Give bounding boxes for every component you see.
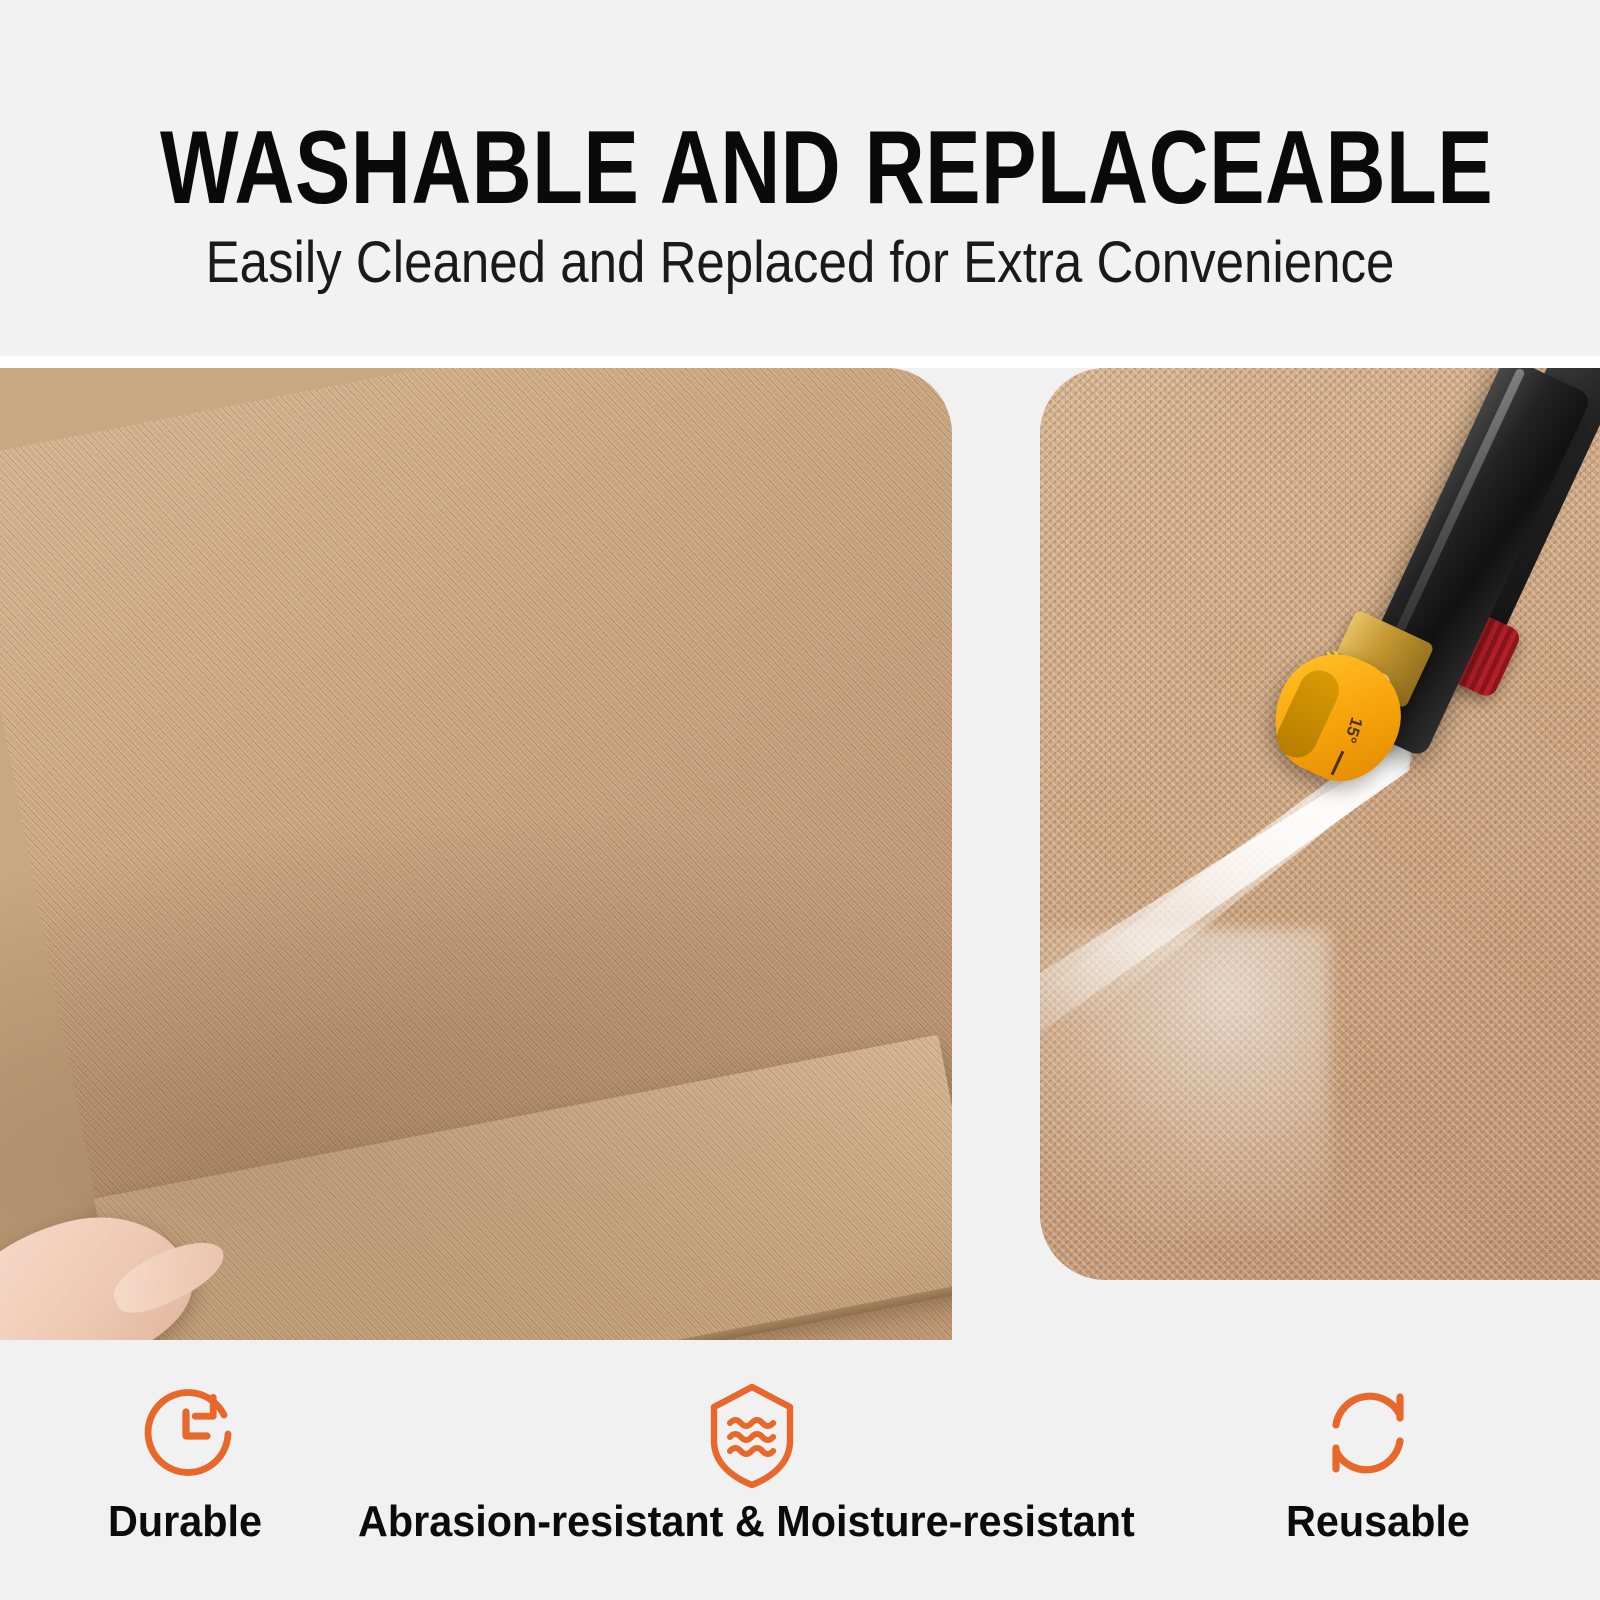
page-subtitle: Easily Cleaned and Replaced for Extra Co…: [96, 232, 1504, 294]
feature-label-durable: Durable: [108, 1497, 262, 1547]
feature-label-reusable: Reusable: [1286, 1497, 1470, 1547]
washable-carpet-photo: 15°: [1040, 368, 1600, 1280]
feature-label-resistant: Abrasion-resistant & Moisture-resistant: [358, 1497, 1135, 1547]
shield-waves-icon: [700, 1381, 804, 1496]
recycle-loop-icon: [1316, 1381, 1420, 1490]
header-banner: WASHABLE AND REPLACEABLE Easily Cleaned …: [0, 0, 1600, 356]
page-title: WASHABLE AND REPLACEABLE: [160, 116, 1440, 220]
feature-row: Durable Abrasion-resistant & Moisture-re…: [0, 1345, 1600, 1600]
clock-arrow-icon: [138, 1381, 242, 1490]
replaceable-tile-photo: [0, 368, 952, 1340]
header-divider: [0, 356, 1600, 368]
